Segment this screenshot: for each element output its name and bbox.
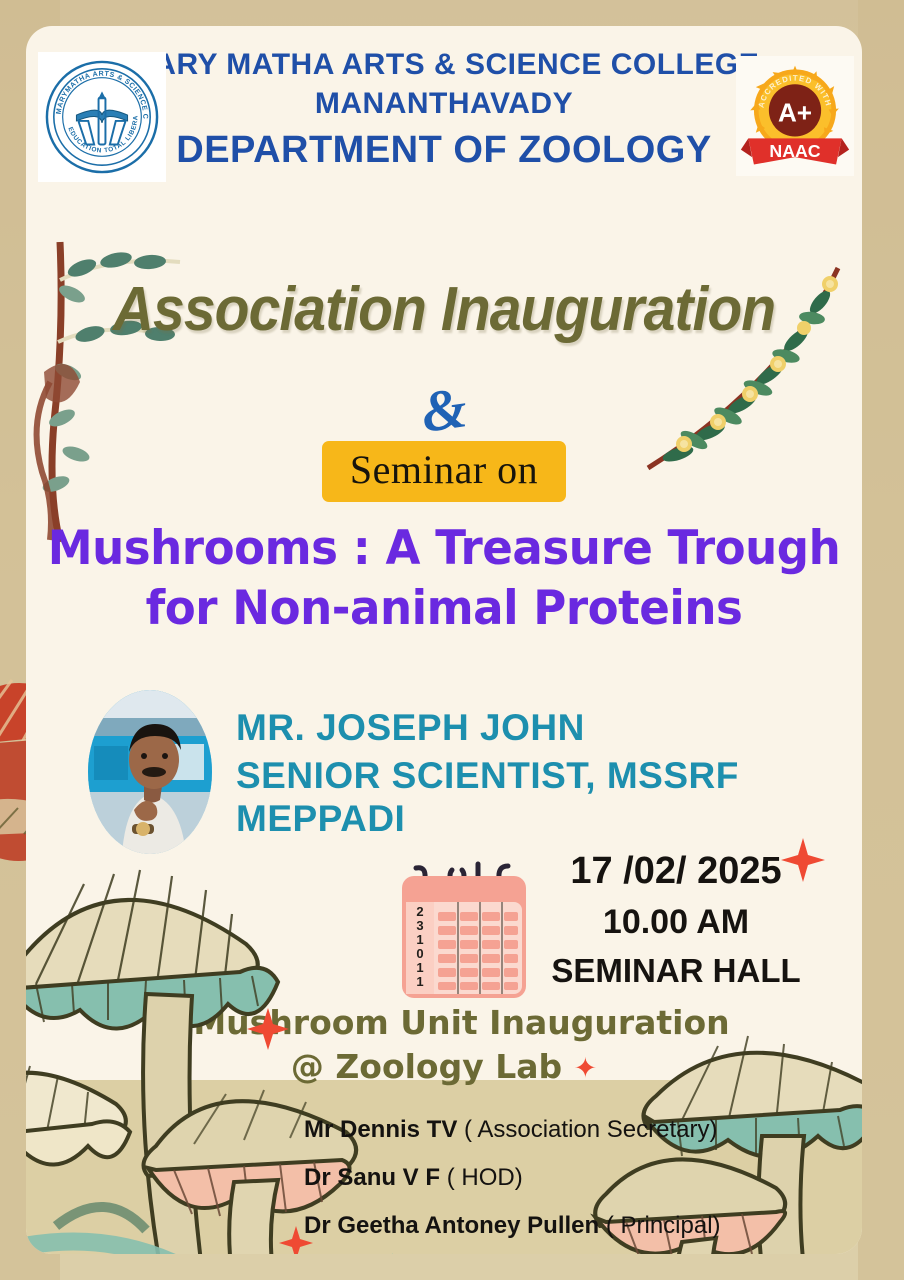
svg-text:1: 1: [416, 932, 423, 947]
right-margin-stripe: [858, 0, 904, 1280]
talk-title-line1: Mushrooms : A Treasure Trough: [43, 519, 846, 579]
speaker-name: Mr. Joseph John: [236, 706, 856, 750]
poster-card: MARYMATHA ARTS & SCIENCE COLLEGE MANANTH…: [26, 26, 862, 1254]
svg-text:0: 0: [416, 946, 423, 961]
event-time: 10.00 AM: [526, 903, 826, 942]
speaker-portrait-photo-icon: [88, 690, 212, 854]
talk-title: Mushrooms : A Treasure Trough for Non-an…: [43, 519, 846, 639]
organisers-list: Mr Dennis TV ( Association Secretary) Dr…: [26, 1118, 862, 1242]
calendar-icon: 231 011: [396, 854, 532, 1002]
olive-branch-illustration: [26, 222, 190, 552]
mushroom-unit-section: ✦ Mushroom Unit Inauguration @ Zoology L…: [26, 1001, 862, 1089]
college-seal-logo-icon: MARYMATHA ARTS & SCIENCE COLLEGE MANANTH…: [43, 58, 161, 176]
organiser-role: ( HOD): [447, 1164, 523, 1191]
list-item: Mr Dennis TV ( Association Secretary): [304, 1118, 862, 1142]
svg-text:NAAC: NAAC: [769, 141, 820, 161]
seminar-label-wrap: Seminar on: [26, 441, 862, 502]
event-venue: Seminar hall: [526, 952, 826, 990]
mushroom-unit-text1: Mushroom Unit Inauguration: [193, 1003, 729, 1042]
naac-accreditation-badge-icon: ACCREDITED WITH GRADE A+ NAAC: [739, 60, 851, 172]
organiser-role: ( Association Secretary): [464, 1116, 717, 1143]
talk-title-line2: for Non-animal Proteins: [43, 579, 846, 639]
svg-text:1: 1: [416, 974, 423, 989]
svg-text:1: 1: [416, 960, 423, 975]
organiser-name: Dr Sanu V F: [304, 1164, 440, 1191]
svg-text:3: 3: [416, 918, 423, 933]
organiser-name: Dr Geetha Antoney Pullen: [304, 1212, 599, 1239]
naac-badge: ACCREDITED WITH GRADE A+ NAAC: [736, 56, 854, 176]
sparkle-star-icon-right: ✦: [574, 1052, 597, 1085]
organiser-role: ( Principal): [606, 1212, 721, 1239]
association-title: Association Inauguration: [59, 274, 828, 345]
mushroom-unit-line2: @ Zoology Lab ✦: [26, 1045, 862, 1089]
speaker-role: Senior Scientist, MSSRF Meppadi: [236, 754, 856, 841]
four-point-sparkle-icon: [781, 838, 825, 882]
mushroom-unit-text2: @ Zoology Lab: [291, 1047, 562, 1086]
svg-text:2: 2: [416, 904, 423, 919]
avatar: [88, 690, 212, 854]
college-logo: MARYMATHA ARTS & SCIENCE COLLEGE MANANTH…: [38, 52, 166, 182]
speaker-section: Mr. Joseph John Senior Scientist, MSSRF …: [26, 690, 862, 860]
poster-root: MARYMATHA ARTS & SCIENCE COLLEGE MANANTH…: [0, 0, 904, 1280]
organiser-name: Mr Dennis TV: [304, 1116, 457, 1143]
svg-text:A+: A+: [778, 98, 812, 128]
poster-header: MARYMATHA ARTS & SCIENCE COLLEGE MANANTH…: [26, 40, 862, 172]
list-item: Dr Sanu V F ( HOD): [304, 1166, 862, 1190]
seminar-label: Seminar on: [322, 441, 566, 502]
speaker-details: Mr. Joseph John Senior Scientist, MSSRF …: [236, 706, 856, 841]
mushroom-unit-line1: ✦ Mushroom Unit Inauguration: [26, 1001, 862, 1045]
calendar-icon-glyph: 231 011: [396, 854, 532, 1002]
list-item: Dr Geetha Antoney Pullen ( Principal): [304, 1214, 862, 1238]
sparkle-star-icon: ✦: [158, 1008, 181, 1041]
